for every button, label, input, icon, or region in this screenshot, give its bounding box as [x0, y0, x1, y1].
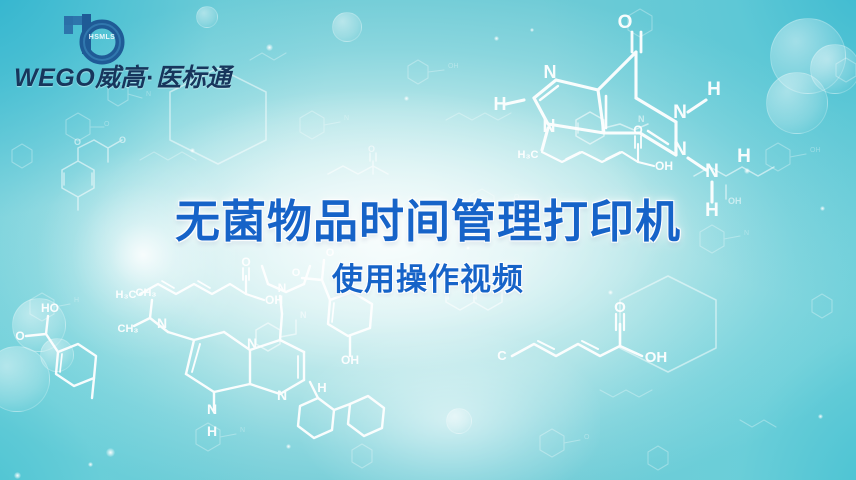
- wordmark-latin: WEGO: [14, 64, 95, 92]
- logo-mark-inner-text: HSMLS: [89, 34, 116, 41]
- wordmark-separator: ·: [145, 64, 156, 92]
- wordmark-cn-2: 医标通: [156, 64, 231, 92]
- brand-logo: HSMLS WEGO威高·医标通: [14, 12, 204, 91]
- svg-text:OH: OH: [645, 349, 668, 366]
- svg-text:O: O: [614, 299, 626, 316]
- light-burst-bottom: [300, 330, 600, 480]
- brand-wordmark: WEGO威高·医标通: [14, 66, 204, 91]
- video-title-card: ON NOH ON OHN OH: [0, 0, 856, 480]
- wego-b-cross-circle-logo-icon: HSMLS: [58, 12, 130, 68]
- wordmark-cn-1: 威高: [95, 64, 145, 92]
